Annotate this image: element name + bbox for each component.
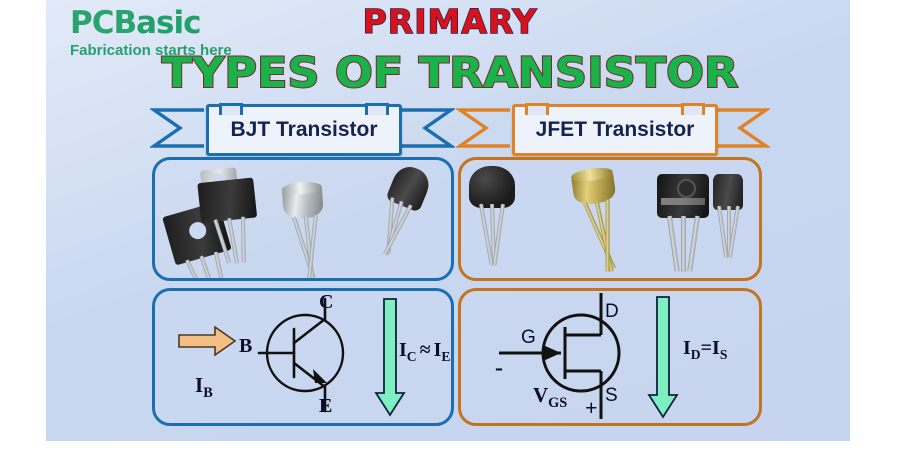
jfet-black-can (469, 166, 519, 214)
ribbon-tail-right-icon (399, 108, 455, 148)
panel-bjt-photos (152, 157, 454, 281)
banner-bjt: BJT Transistor (150, 104, 455, 152)
transistor-to92 (375, 160, 438, 218)
panel-jfet-circuit: D G S - + VGS ID=IS (458, 288, 762, 426)
jfet-photo-group (461, 160, 759, 278)
ribbon-tail-right-icon (714, 108, 770, 148)
transistor-metal-can (282, 180, 331, 227)
emitter-arrow-icon (313, 369, 327, 383)
page-title: TYPES OF TRANSISTOR (0, 48, 900, 97)
terminal-emitter: E (319, 395, 332, 418)
banner-jfet: JFET Transistor (456, 104, 761, 152)
relation-id-is: ID=IS (683, 337, 727, 363)
transistor-to220-tab (196, 165, 264, 231)
gate-arrow-icon (543, 345, 561, 361)
panel-bjt-circuit: IB C B E IC≈IE (152, 288, 454, 426)
jfet-to247-sic (657, 174, 713, 222)
label-base-current: IB (195, 373, 213, 402)
sign-plus: + (585, 395, 598, 421)
terminal-drain: D (605, 301, 619, 323)
ribbon-fold-right (365, 103, 389, 115)
banner-bjt-box: BJT Transistor (206, 104, 402, 156)
label-vgs: VGS (533, 383, 567, 412)
banner-bjt-label: BJT Transistor (230, 118, 377, 142)
banner-jfet-label: JFET Transistor (536, 118, 695, 142)
terminal-gate: G (521, 327, 536, 349)
terminal-base: B (239, 335, 252, 358)
ribbon-fold-left (219, 103, 243, 115)
ribbon-fold-left (525, 103, 549, 115)
jfet-to92 (713, 174, 751, 214)
drain-current-arrow-icon (649, 297, 677, 417)
ribbon-tail-left-icon (150, 108, 206, 148)
banner-jfet-box: JFET Transistor (512, 104, 718, 156)
terminal-collector: C (319, 291, 333, 314)
ribbon-fold-right (681, 103, 705, 115)
base-current-arrow-icon (179, 327, 235, 355)
bjt-photo-group (155, 160, 451, 278)
ribbon-tail-left-icon (456, 108, 512, 148)
panel-jfet-photos (458, 157, 762, 281)
terminal-source: S (605, 385, 618, 407)
infographic-canvas: PCBasic Fabrication starts here PRIMARY … (0, 0, 900, 450)
sign-minus: - (495, 355, 503, 382)
eyebrow-title: PRIMARY (0, 2, 900, 41)
relation-ic-ie: IC≈IE (399, 339, 450, 365)
jfet-gold-can (570, 165, 623, 213)
